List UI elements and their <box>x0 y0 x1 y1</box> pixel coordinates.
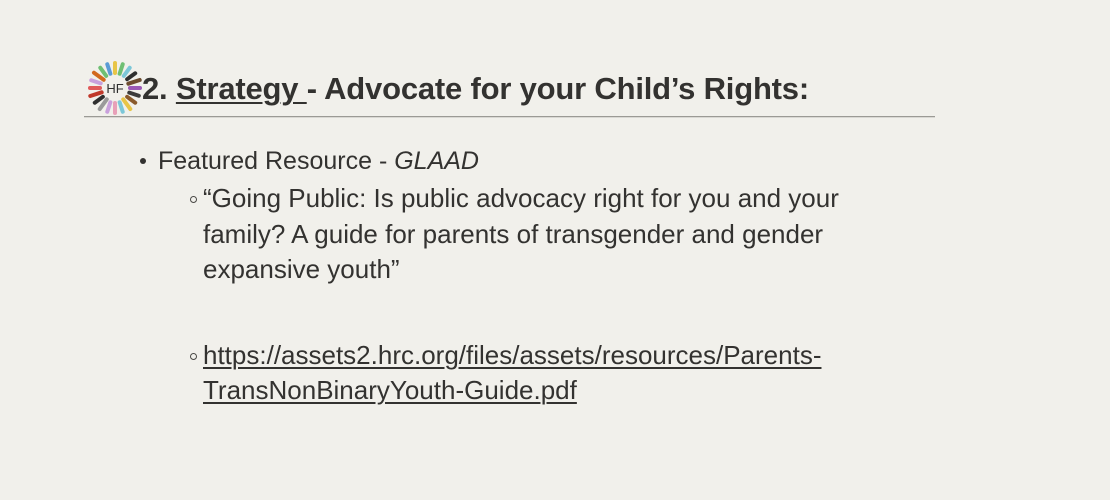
title-underlined-word: Strategy <box>176 71 307 106</box>
bullet-emphasis: GLAAD <box>394 147 479 175</box>
bullet-disc-icon <box>140 158 146 164</box>
list-item: Featured Resource - GLAAD <box>138 144 1038 179</box>
slide-title-row: HF 2. Strategy - Advocate for your Child… <box>84 62 944 114</box>
bullet-text: Featured Resource - <box>158 147 394 175</box>
hf-sunburst-icon: HF <box>84 60 146 116</box>
slide-body: Featured Resource - GLAAD “Going Public:… <box>138 144 1038 409</box>
bullet-circle-icon <box>190 353 197 360</box>
page-title: 2. Strategy - Advocate for your Child’s … <box>142 73 809 104</box>
slide-canvas: HF 2. Strategy - Advocate for your Child… <box>0 0 1110 500</box>
resource-hyperlink[interactable]: https://assets2.hrc.org/files/assets/res… <box>203 338 883 409</box>
title-prefix: 2. <box>142 71 176 106</box>
title-divider <box>84 116 935 118</box>
title-suffix: - Advocate for your Child’s Rights: <box>307 71 809 106</box>
list-item[interactable]: https://assets2.hrc.org/files/assets/res… <box>138 338 1038 409</box>
list-item: “Going Public: Is public advocacy right … <box>138 181 1038 288</box>
sub-list: “Going Public: Is public advocacy right … <box>138 181 1038 409</box>
quote-text: “Going Public: Is public advocacy right … <box>203 181 893 288</box>
hf-sunburst-logo: HF <box>84 60 146 116</box>
hf-logo-text: HF <box>106 81 123 96</box>
bullet-circle-icon <box>190 196 197 203</box>
